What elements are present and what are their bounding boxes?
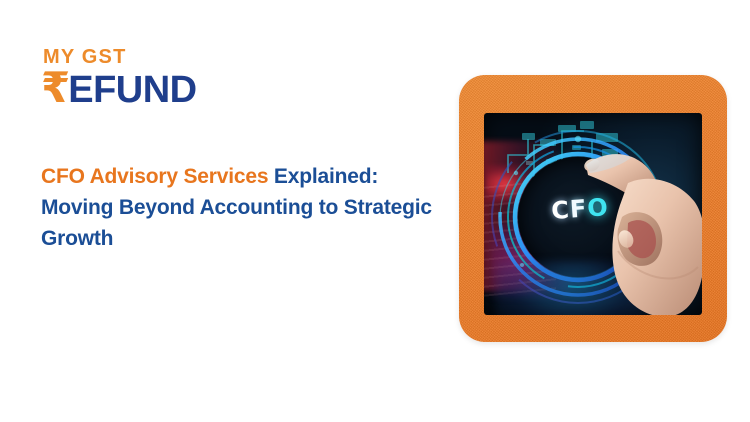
promo-banner: MY GST ₹ EFUND CFO Advisory Services Exp… <box>0 0 750 422</box>
rupee-icon: ₹ <box>41 69 69 107</box>
cfo-letter-c: C <box>550 196 571 225</box>
pointing-hand-icon <box>582 131 702 315</box>
page-title: CFO Advisory Services Explained: Moving … <box>41 162 441 255</box>
media-card: CFO <box>459 75 727 342</box>
headline-accent: CFO Advisory Services <box>41 165 268 188</box>
logo-bottom-row: ₹ EFUND <box>41 69 197 107</box>
logo-bottom-text: EFUND <box>68 73 196 107</box>
media-screen: CFO <box>484 113 702 315</box>
brand-logo[interactable]: MY GST ₹ EFUND <box>41 47 197 107</box>
